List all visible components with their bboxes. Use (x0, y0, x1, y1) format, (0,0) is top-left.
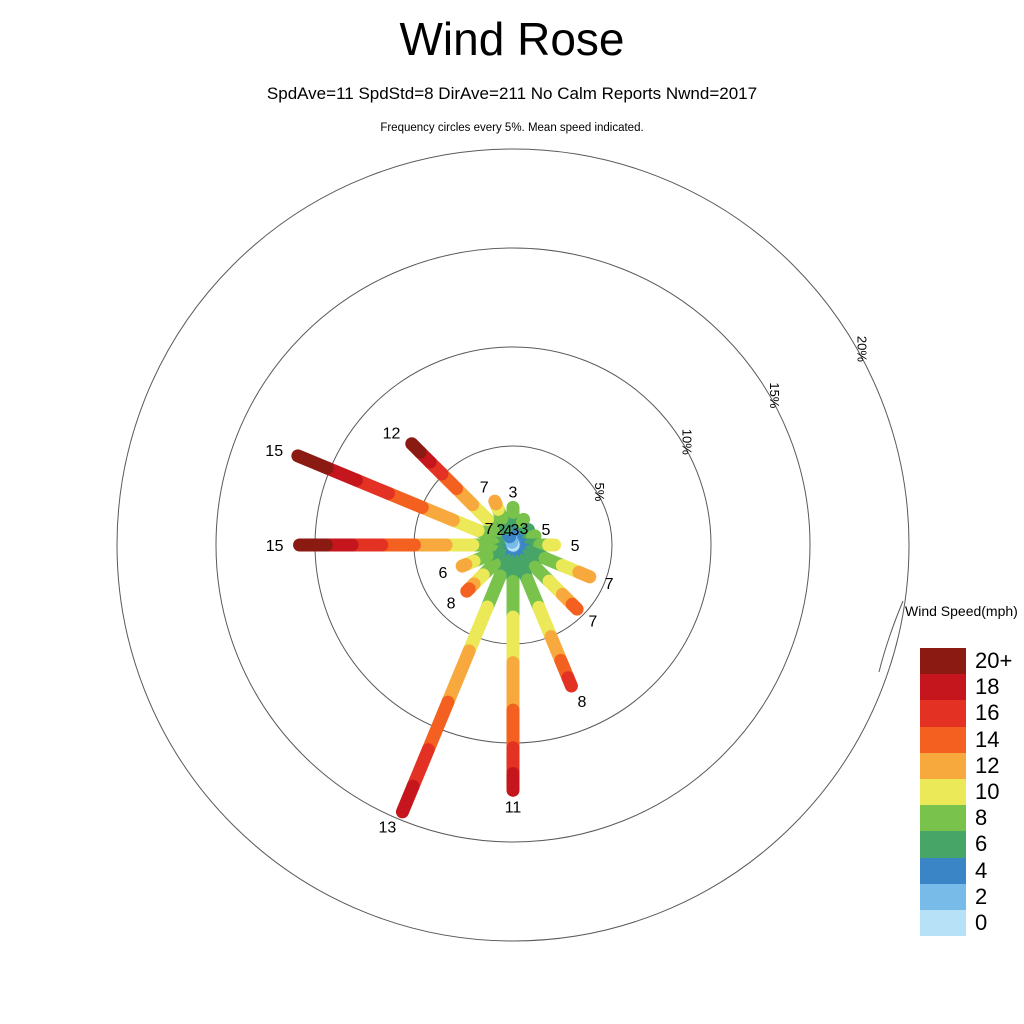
ring-label-20: 20% (854, 336, 869, 362)
petal-mean-speed-W: 15 (266, 538, 284, 555)
petal-mean-speed-NNW: 7 (480, 479, 489, 496)
petal-mean-speed-SSE: 8 (578, 694, 587, 711)
petal-segment (495, 501, 496, 504)
legend-row[interactable]: 8 (920, 805, 1024, 831)
legend-label: 6 (975, 831, 1024, 857)
petal-mean-speed-SE: 7 (588, 613, 597, 630)
legend-label: 18 (975, 674, 1024, 700)
legend-label: 8 (975, 805, 1024, 831)
legend-label: 0 (975, 910, 1024, 936)
legend-swatch (920, 884, 966, 910)
center-mean-speed-label: 3 (511, 522, 520, 539)
petal-segment (469, 607, 487, 651)
petal-segment (402, 786, 413, 812)
legend-label: 4 (975, 858, 1024, 884)
petal-mean-speed-N: 3 (509, 484, 518, 501)
legend-swatch (920, 700, 966, 726)
legend-row[interactable]: 18 (920, 674, 1024, 700)
legend-row[interactable]: 14 (920, 727, 1024, 753)
petal-segment (579, 572, 590, 577)
petal-mean-speed-SSW: 13 (379, 820, 397, 837)
legend-swatch (920, 648, 966, 674)
petal-segment (448, 651, 469, 702)
center-mean-speed-label: 7 (485, 521, 494, 538)
legend-swatch (920, 805, 966, 831)
legend-label: 20+ (975, 648, 1024, 674)
petal-WNW (298, 456, 513, 545)
legend-row[interactable]: 0 (920, 910, 1024, 936)
petal-mean-speed-WNW: 15 (265, 443, 283, 460)
petal-mean-speed-SW: 8 (447, 596, 456, 613)
legend-swatch (920, 910, 966, 936)
ring-label-5: 5% (592, 483, 607, 502)
legend-swatch (920, 727, 966, 753)
petal-segment (572, 604, 577, 609)
petal-segment (532, 536, 535, 537)
ring-label-15: 15% (767, 382, 782, 408)
petal-mean-speed-S: 11 (505, 799, 522, 816)
legend-swatch (920, 753, 966, 779)
legend-label: 16 (975, 700, 1024, 726)
legend-swatch (920, 831, 966, 857)
petal-mean-speed-E: 5 (571, 538, 580, 555)
legend-label: 12 (975, 753, 1024, 779)
wind-rose-plot: 5%10%15%20%332457781113861515127724335 (0, 0, 1024, 1024)
petal-SSW (402, 545, 513, 812)
center-mean-speed-label: 3 (520, 521, 529, 538)
legend-row[interactable]: 6 (920, 831, 1024, 857)
legend-swatch (920, 779, 966, 805)
petal-mean-speed-WSW: 6 (438, 565, 447, 582)
legend-swatch (920, 674, 966, 700)
legend-row[interactable]: 16 (920, 700, 1024, 726)
legend-label: 10 (975, 779, 1024, 805)
petal-mean-speed-ESE: 7 (605, 576, 614, 593)
legend-label: 2 (975, 884, 1024, 910)
petal-segment (568, 678, 571, 686)
legend-row[interactable]: 20+ (920, 648, 1024, 674)
legend-row[interactable]: 4 (920, 858, 1024, 884)
petal-segment (462, 565, 466, 567)
center-mean-speed-label: 5 (542, 522, 551, 539)
petal-segment (428, 702, 448, 750)
petal-segment (412, 444, 420, 452)
petal-segment (467, 589, 469, 591)
wind-speed-legend: 20+181614121086420 (920, 648, 1024, 936)
legend-label: 14 (975, 727, 1024, 753)
legend-title: Wind Speed(mph) (905, 603, 1018, 619)
legend-row[interactable]: 2 (920, 884, 1024, 910)
petal-segment (298, 456, 327, 468)
legend-row[interactable]: 10 (920, 779, 1024, 805)
legend-row[interactable]: 12 (920, 753, 1024, 779)
ring-label-10: 10% (680, 429, 695, 455)
petal-mean-speed-NW: 12 (383, 425, 401, 442)
legend-swatch (920, 858, 966, 884)
